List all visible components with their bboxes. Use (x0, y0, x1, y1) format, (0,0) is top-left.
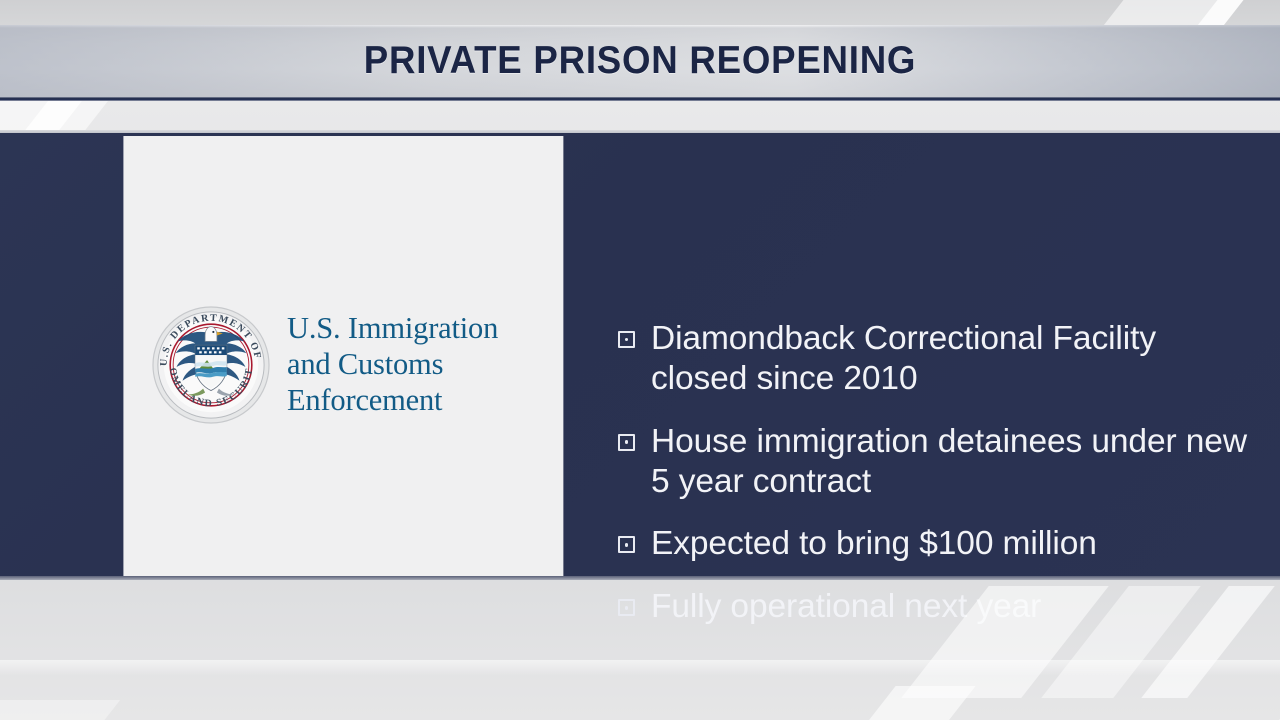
square-dot-bullet-icon (618, 599, 635, 616)
header-underline-rule (0, 97, 1280, 101)
agency-line-1: U.S. Immigration (287, 311, 498, 347)
list-item: Diamondback Correctional Facility closed… (618, 319, 1258, 399)
list-item-label: Fully operational next year (651, 587, 1041, 627)
ice-logo: U.S. DEPARTMENT OF HOMELAND SECURITY (152, 306, 498, 424)
logo-card: U.S. DEPARTMENT OF HOMELAND SECURITY (124, 136, 563, 580)
dhs-seal-icon: U.S. DEPARTMENT OF HOMELAND SECURITY (152, 306, 270, 424)
agency-line-3: Enforcement (287, 383, 498, 419)
agency-line-2: and Customs (287, 347, 498, 383)
panel-bottom-edge (0, 576, 1280, 580)
square-dot-bullet-icon (618, 434, 635, 451)
list-item: Fully operational next year (618, 587, 1258, 627)
list-item-label: Diamondback Correctional Facility closed… (651, 319, 1258, 399)
list-item-label: House immigration detainees under new 5 … (651, 422, 1258, 502)
broadcast-graphic: PRIVATE PRISON REOPENING Diamondback Cor… (0, 0, 1280, 720)
list-item-label: Expected to bring $100 million (651, 524, 1097, 564)
square-dot-bullet-icon (618, 536, 635, 553)
bottom-sheen (0, 660, 1280, 676)
list-item: House immigration detainees under new 5 … (618, 422, 1258, 502)
bullet-list: Diamondback Correctional Facility closed… (618, 319, 1258, 627)
square-dot-bullet-icon (618, 331, 635, 348)
agency-wordmark: U.S. Immigration and Customs Enforcement (287, 311, 498, 418)
list-item: Expected to bring $100 million (618, 524, 1258, 564)
page-title: PRIVATE PRISON REOPENING (38, 28, 1241, 94)
